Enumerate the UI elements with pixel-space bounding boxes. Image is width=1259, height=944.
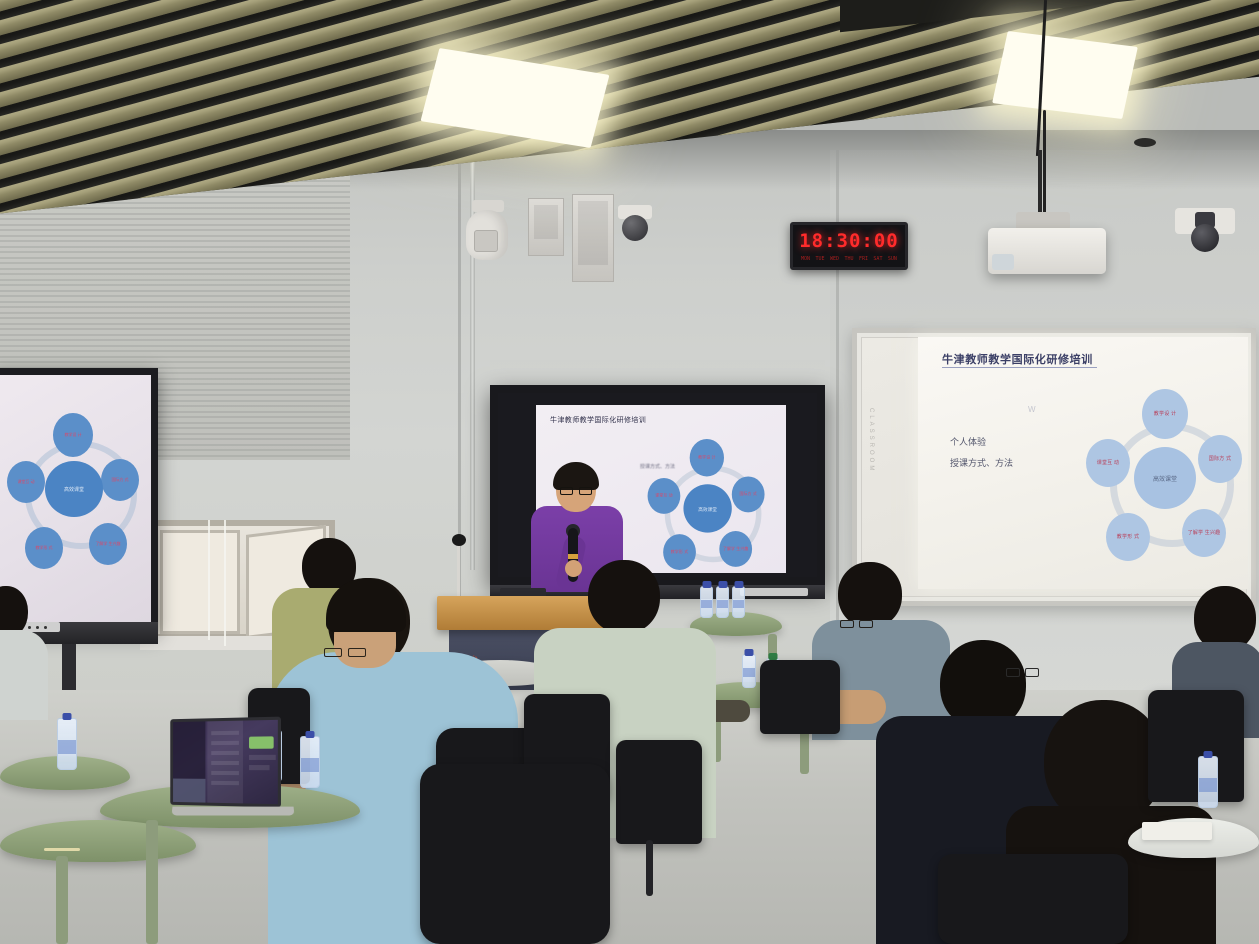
center-bubble-left-upper: 课堂互 动 bbox=[648, 478, 681, 514]
attendee-glasses-icon bbox=[324, 648, 366, 657]
blind-slat bbox=[0, 356, 350, 358]
center-slide-diagram: 教学设 计 国际方 式 了解学 生兴趣 教学形 式 课堂互 动 高效课堂 bbox=[646, 439, 769, 581]
attendee-right-dark-glasses-icon bbox=[1006, 668, 1040, 677]
slide-diagram: 教学设 计 国际方 式 了解学 生兴趣 教学形 式 课堂互 动 高效课堂 bbox=[1086, 389, 1244, 571]
projector-lens bbox=[992, 254, 1014, 270]
ptz-dome-camera bbox=[464, 200, 510, 262]
blind-slat bbox=[0, 350, 350, 352]
ceiling-speaker bbox=[1134, 138, 1156, 147]
left-board-screen[interactable]: 教学设 计 国际方 式 了解学 生兴趣 教学形 式 课堂互 动 高效课堂 bbox=[0, 375, 151, 623]
projected-slide: 牛津教师教学国际化研修培训 W 个人体验 授课方式、方法 教学设 计 国际方 式… bbox=[918, 337, 1248, 589]
bubble-right-lower: 了解学 生兴趣 bbox=[1182, 509, 1226, 557]
paper-sheet[interactable] bbox=[1142, 822, 1212, 840]
center-bubble-right-upper: 国际方 式 bbox=[732, 476, 765, 512]
blind-slat bbox=[0, 235, 350, 237]
podium-microphone-head bbox=[452, 534, 466, 546]
blind-slat bbox=[0, 301, 350, 303]
laptop-base[interactable] bbox=[172, 807, 295, 816]
left-bubble-right-upper: 国际方 式 bbox=[101, 459, 139, 501]
blind-cord[interactable] bbox=[208, 520, 210, 640]
wall-dome-camera-right bbox=[1175, 208, 1235, 256]
clock-day-indicators: MONTUEWEDTHUFRISATSUN bbox=[801, 256, 897, 262]
projector-mount-rod bbox=[1038, 150, 1042, 214]
blind-slat bbox=[0, 279, 350, 281]
desk-leg bbox=[56, 856, 68, 944]
blind-slat bbox=[0, 334, 350, 336]
water-bottle[interactable] bbox=[300, 736, 320, 788]
blind-slat bbox=[0, 218, 350, 220]
left-bubble-left-upper: 课堂互 动 bbox=[7, 461, 45, 503]
bubble-center: 高效课堂 bbox=[1134, 447, 1196, 509]
blind-slat bbox=[0, 323, 350, 325]
slide-title: 牛津教师教学国际化研修培训 bbox=[942, 351, 1093, 367]
blind-slat bbox=[0, 273, 350, 275]
water-bottle[interactable] bbox=[700, 586, 713, 618]
blind-slat bbox=[0, 317, 350, 319]
blind-slat bbox=[0, 268, 350, 270]
chair[interactable] bbox=[1148, 690, 1244, 802]
slide-watermark: W bbox=[1028, 405, 1036, 414]
left-interactive-whiteboard[interactable]: 教学设 计 国际方 式 了解学 生兴趣 教学形 式 课堂互 动 高效课堂 bbox=[0, 368, 158, 630]
center-bubble-top: 教学设 计 bbox=[690, 439, 724, 476]
center-bubble-center: 高效课堂 bbox=[683, 484, 731, 532]
slide-body-line-2: 授课方式、方法 bbox=[950, 453, 1013, 474]
blind-slat bbox=[0, 251, 350, 253]
blind-slat bbox=[0, 295, 350, 297]
blind-slat bbox=[0, 345, 350, 347]
wall-speaker-1 bbox=[528, 198, 564, 256]
ceiling-light-panel-2 bbox=[992, 31, 1138, 119]
left-bubble-top: 教学设 计 bbox=[53, 413, 93, 457]
blind-slat bbox=[0, 240, 350, 242]
attendee-right-glasses-icon bbox=[840, 620, 874, 628]
presenter-hand bbox=[565, 560, 582, 577]
chair[interactable] bbox=[420, 764, 610, 944]
attendee-laptop[interactable] bbox=[170, 717, 281, 808]
microphone-band bbox=[568, 554, 578, 559]
slide-title-underline bbox=[942, 367, 1097, 368]
blind-slat bbox=[0, 361, 350, 363]
whiteboard-side-label: CLASSROOM bbox=[868, 408, 874, 473]
chair[interactable] bbox=[938, 854, 1128, 944]
chair[interactable] bbox=[760, 660, 840, 734]
blind-slat bbox=[0, 257, 350, 259]
blind-slat bbox=[0, 306, 350, 308]
bubble-left-upper: 课堂互 动 bbox=[1086, 439, 1130, 487]
blind-slat bbox=[0, 312, 350, 314]
blind-slat bbox=[0, 224, 350, 226]
left-bubble-right-lower: 了解学 生兴趣 bbox=[89, 523, 127, 565]
wooden-lectern bbox=[437, 596, 612, 630]
chair-leg bbox=[646, 840, 653, 896]
center-display-control-panel[interactable] bbox=[740, 588, 808, 596]
center-bubble-left-lower: 教学形 式 bbox=[663, 534, 696, 570]
bubble-right-upper: 国际方 式 bbox=[1198, 435, 1242, 483]
presenter-glasses-icon bbox=[560, 487, 592, 495]
water-bottle[interactable] bbox=[742, 654, 756, 688]
left-bubble-center: 高效课堂 bbox=[45, 461, 103, 517]
wall-seam-right bbox=[836, 150, 839, 620]
blind-cord-2[interactable] bbox=[224, 520, 226, 646]
laptop-screen-content[interactable] bbox=[173, 720, 278, 804]
blind-slat bbox=[0, 339, 350, 341]
classroom-scene: 18:30:00 MONTUEWEDTHUFRISATSUN 教学设 计 国际方… bbox=[0, 0, 1259, 944]
blind-slat bbox=[0, 213, 350, 215]
center-slide-title: 牛津教师教学国际化研修培训 bbox=[550, 415, 646, 425]
slide-body-line-1: 个人体验 bbox=[950, 432, 1013, 453]
blind-slat bbox=[0, 290, 350, 292]
pen[interactable] bbox=[44, 848, 80, 851]
wall-dome-camera-left bbox=[618, 205, 652, 243]
water-bottle[interactable] bbox=[1198, 756, 1218, 808]
blind-slat bbox=[0, 262, 350, 264]
blind-slat bbox=[0, 284, 350, 286]
clock-time-display: 18:30:00 bbox=[793, 230, 905, 252]
wall-digital-clock: 18:30:00 MONTUEWEDTHUFRISATSUN bbox=[790, 222, 908, 270]
chair[interactable] bbox=[616, 740, 702, 844]
bubble-left-lower: 教学形 式 bbox=[1106, 513, 1150, 561]
center-bubble-right-lower: 了解学 生兴趣 bbox=[719, 531, 752, 567]
left-board-diagram: 教学设 计 国际方 式 了解学 生兴趣 教学形 式 课堂互 动 高效课堂 bbox=[5, 405, 145, 573]
blind-slat bbox=[0, 328, 350, 330]
left-bubble-left-lower: 教学形 式 bbox=[25, 527, 63, 569]
water-bottle[interactable] bbox=[716, 586, 729, 618]
water-bottle[interactable] bbox=[57, 718, 77, 770]
blind-slat bbox=[0, 229, 350, 231]
desk-leg bbox=[146, 820, 158, 944]
slide-body: 个人体验 授课方式、方法 bbox=[950, 432, 1013, 474]
ceiling-projector bbox=[988, 228, 1106, 274]
bubble-top: 教学设 计 bbox=[1142, 389, 1188, 439]
wall-speaker-2 bbox=[572, 194, 614, 282]
blind-slat bbox=[0, 246, 350, 248]
water-bottle[interactable] bbox=[732, 586, 745, 618]
